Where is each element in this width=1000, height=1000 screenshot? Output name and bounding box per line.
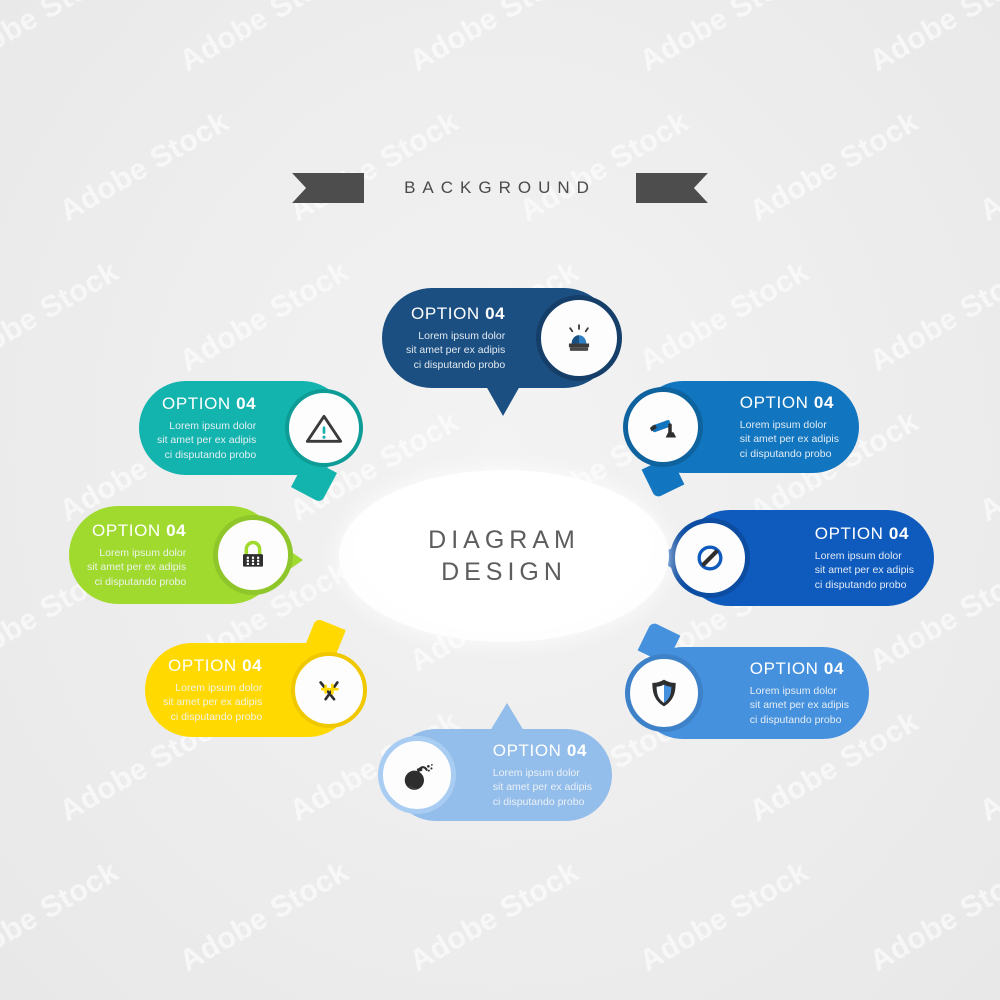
ribbon-right-icon: [636, 173, 708, 203]
desc-line-3: ci disputando probo: [163, 710, 262, 724]
desc-line-1: Lorem ipsum dolor: [740, 418, 839, 432]
bubble-option-label: OPTION 04: [411, 304, 505, 324]
bubble-text-block: OPTION 04 Lorem ipsum dolor sit amet per…: [740, 393, 839, 462]
page-title: BACKGROUND: [364, 178, 636, 198]
watermark-tile: Adobe Stock: [404, 855, 585, 979]
desc-line-3: ci disputando probo: [87, 575, 186, 589]
desc-line-1: Lorem ipsum dolor: [493, 766, 592, 780]
bubble-option-label: OPTION 04: [493, 741, 587, 761]
bubble-desc: Lorem ipsum dolor sit amet per ex adipis…: [163, 681, 262, 724]
watermark-tile: Adobe Stock: [174, 0, 355, 79]
watermark-tile: Adobe Stock: [404, 0, 585, 79]
desc-line-2: sit amet per ex adipis: [406, 343, 505, 357]
watermark-tile: Adobe Stock: [0, 405, 5, 529]
watermark-tile: Adobe Stock: [284, 105, 465, 229]
bubble-option-number: 04: [166, 521, 186, 540]
desc-line-2: sit amet per ex adipis: [87, 560, 186, 574]
bubble-option-number: 04: [567, 741, 587, 760]
bubble-option-label: OPTION 04: [162, 394, 256, 414]
bubble-text-block: OPTION 04 Lorem ipsum dolor sit amet per…: [406, 304, 505, 373]
bubble-option-label: OPTION 04: [168, 656, 262, 676]
bubble-desc: Lorem ipsum dolor sit amet per ex adipis…: [157, 419, 256, 462]
bubble-tail: [490, 703, 524, 731]
bubble-option-word: OPTION: [493, 741, 562, 760]
desc-line-1: Lorem ipsum dolor: [87, 546, 186, 560]
shield-icon: [625, 654, 703, 732]
bubble-text-block: OPTION 04 Lorem ipsum dolor sit amet per…: [750, 659, 849, 728]
watermark-tile: Adobe Stock: [974, 405, 1000, 529]
option-bubble-shield[interactable]: OPTION 04 Lorem ipsum dolor sit amet per…: [637, 647, 869, 739]
bubble-option-label: OPTION 04: [815, 524, 909, 544]
warning-triangle-icon: [285, 389, 363, 467]
desc-line-3: ci disputando probo: [750, 713, 849, 727]
bubble-option-word: OPTION: [168, 656, 237, 675]
desc-line-2: sit amet per ex adipis: [815, 563, 914, 577]
bubble-option-number: 04: [814, 393, 834, 412]
desc-line-1: Lorem ipsum dolor: [163, 681, 262, 695]
watermark-tile: Adobe Stock: [0, 855, 125, 979]
bubble-option-label: OPTION 04: [750, 659, 844, 679]
bubble-text-block: OPTION 04 Lorem ipsum dolor sit amet per…: [87, 521, 186, 590]
header-banner: BACKGROUND: [0, 170, 1000, 206]
desc-line-3: ci disputando probo: [406, 358, 505, 372]
bubble-option-number: 04: [485, 304, 505, 323]
desc-line-1: Lorem ipsum dolor: [815, 549, 914, 563]
option-bubble-yellow[interactable]: OPTION 04 Lorem ipsum dolor sit amet per…: [145, 643, 355, 737]
watermark-tile: Adobe Stock: [0, 705, 5, 829]
desc-line-3: ci disputando probo: [815, 578, 914, 592]
bubble-option-word: OPTION: [411, 304, 480, 323]
watermark-tile: Adobe Stock: [514, 105, 695, 229]
bubble-option-number: 04: [236, 394, 256, 413]
watermark-tile: Adobe Stock: [0, 255, 125, 379]
desc-line-2: sit amet per ex adipis: [157, 433, 256, 447]
ribbon-left-icon: [292, 173, 364, 203]
watermark-tile: Adobe Stock: [974, 105, 1000, 229]
bubble-desc: Lorem ipsum dolor sit amet per ex adipis…: [87, 546, 186, 589]
watermark-tile: Adobe Stock: [174, 255, 355, 379]
watermark-tile: Adobe Stock: [974, 705, 1000, 829]
desc-line-3: ci disputando probo: [157, 448, 256, 462]
bubble-text-block: OPTION 04 Lorem ipsum dolor sit amet per…: [493, 741, 592, 810]
bubble-option-label: OPTION 04: [740, 393, 834, 413]
option-bubble-bottom[interactable]: OPTION 04 Lorem ipsum dolor sit amet per…: [390, 729, 612, 821]
watermark-tile: Adobe Stock: [864, 255, 1000, 379]
bubble-option-word: OPTION: [750, 659, 819, 678]
center-ellipse: DIAGRAM DESIGN: [339, 470, 669, 642]
option-bubble-camera[interactable]: OPTION 04 Lorem ipsum dolor sit amet per…: [637, 381, 859, 473]
bubble-text-block: OPTION 04 Lorem ipsum dolor sit amet per…: [815, 524, 914, 593]
desc-line-2: sit amet per ex adipis: [740, 432, 839, 446]
bubble-desc: Lorem ipsum dolor sit amet per ex adipis…: [740, 418, 839, 461]
bubble-tail: [486, 386, 520, 416]
bubble-option-word: OPTION: [162, 394, 231, 413]
barbed-wire-icon: [291, 652, 367, 728]
bubble-desc: Lorem ipsum dolor sit amet per ex adipis…: [750, 684, 849, 727]
watermark-tile: Adobe Stock: [0, 105, 5, 229]
security-camera-icon: [623, 387, 703, 467]
option-bubble-prohibit[interactable]: OPTION 04 Lorem ipsum dolor sit amet per…: [682, 510, 934, 606]
desc-line-3: ci disputando probo: [493, 795, 592, 809]
watermark-tile: Adobe Stock: [744, 105, 925, 229]
bubble-option-word: OPTION: [740, 393, 809, 412]
watermark-tile: Adobe Stock: [54, 105, 235, 229]
watermark-tile: Adobe Stock: [634, 255, 815, 379]
watermark-tile: Adobe Stock: [634, 0, 815, 79]
bubble-text-block: OPTION 04 Lorem ipsum dolor sit amet per…: [157, 394, 256, 463]
bubble-option-word: OPTION: [92, 521, 161, 540]
bubble-desc: Lorem ipsum dolor sit amet per ex adipis…: [815, 549, 914, 592]
center-title-line2: DESIGN: [441, 556, 567, 588]
bubble-option-number: 04: [242, 656, 262, 675]
bubble-option-label: OPTION 04: [92, 521, 186, 541]
bubble-desc: Lorem ipsum dolor sit amet per ex adipis…: [493, 766, 592, 809]
watermark-tile: Adobe Stock: [174, 855, 355, 979]
desc-line-2: sit amet per ex adipis: [493, 780, 592, 794]
option-bubble-teal[interactable]: OPTION 04 Lorem ipsum dolor sit amet per…: [139, 381, 349, 475]
watermark-tile: Adobe Stock: [864, 855, 1000, 979]
bomb-icon: [378, 736, 456, 814]
bubble-desc: Lorem ipsum dolor sit amet per ex adipis…: [406, 329, 505, 372]
watermark-tile: Adobe Stock: [634, 855, 815, 979]
option-bubble-green[interactable]: OPTION 04 Lorem ipsum dolor sit amet per…: [69, 506, 279, 604]
infographic-canvas: Adobe StockAdobe StockAdobe StockAdobe S…: [0, 0, 1000, 1000]
desc-line-2: sit amet per ex adipis: [750, 698, 849, 712]
bubble-option-number: 04: [889, 524, 909, 543]
desc-line-1: Lorem ipsum dolor: [406, 329, 505, 343]
center-title-line1: DIAGRAM: [428, 524, 580, 556]
watermark-tile: Adobe Stock: [0, 0, 125, 79]
bubble-option-number: 04: [824, 659, 844, 678]
siren-icon: [536, 295, 622, 381]
desc-line-3: ci disputando probo: [740, 447, 839, 461]
watermark-tile: Adobe Stock: [864, 0, 1000, 79]
option-bubble-top[interactable]: OPTION 04 Lorem ipsum dolor sit amet per…: [382, 288, 614, 388]
bubble-text-block: OPTION 04 Lorem ipsum dolor sit amet per…: [163, 656, 262, 725]
prohibited-icon: [670, 518, 750, 598]
desc-line-1: Lorem ipsum dolor: [750, 684, 849, 698]
padlock-icon: [213, 515, 293, 595]
desc-line-1: Lorem ipsum dolor: [157, 419, 256, 433]
bubble-option-word: OPTION: [815, 524, 884, 543]
desc-line-2: sit amet per ex adipis: [163, 695, 262, 709]
